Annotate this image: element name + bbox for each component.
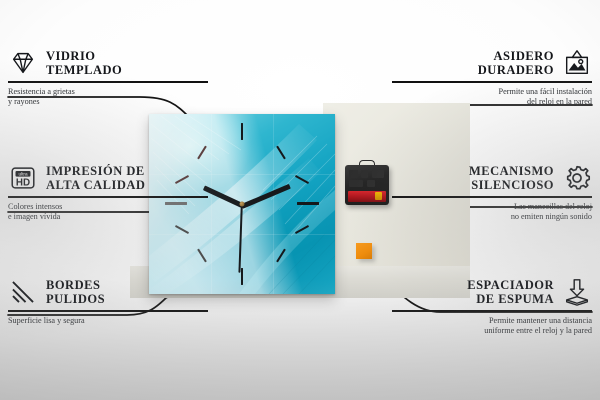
polished-edges-icon bbox=[8, 277, 38, 307]
diamond-icon bbox=[8, 48, 38, 78]
feature-divider bbox=[392, 196, 592, 198]
glass-reflection-line bbox=[149, 234, 335, 235]
feature-title: ESPACIADOR DE ESPUMA bbox=[467, 278, 554, 306]
clock-tick-3 bbox=[297, 202, 319, 205]
feature-title: IMPRESIÓN DE ALTA CALIDAD bbox=[46, 164, 145, 192]
clock-tick-12 bbox=[241, 123, 243, 140]
feature-espaciador-espuma: ESPACIADOR DE ESPUMA Permite mantener un… bbox=[392, 277, 592, 336]
svg-text:HD: HD bbox=[16, 178, 30, 189]
feature-divider bbox=[392, 81, 592, 83]
clock-center-pin bbox=[240, 202, 245, 207]
hanging-picture-frame-icon bbox=[562, 48, 592, 78]
feature-header: VIDRIO TEMPLADO bbox=[8, 48, 208, 78]
feature-header: BORDES PULIDOS bbox=[8, 277, 208, 307]
glass-reflection-line bbox=[273, 114, 274, 294]
feature-header: ESPACIADOR DE ESPUMA bbox=[392, 277, 592, 307]
clock-mechanism bbox=[345, 165, 389, 205]
foam-spacer bbox=[356, 243, 372, 259]
ultra-hd-icon: ultra HD bbox=[8, 163, 38, 193]
feature-divider bbox=[8, 81, 208, 83]
infographic-canvas: VIDRIO TEMPLADO Resistencia a grietas y … bbox=[0, 0, 600, 400]
arrow-down-pad-icon bbox=[562, 277, 592, 307]
clock-tick-6 bbox=[241, 268, 243, 285]
mechanism-battery bbox=[348, 191, 386, 202]
feature-bordes-pulidos: BORDES PULIDOS Superficie lisa y segura bbox=[8, 277, 208, 326]
feature-impresion-alta-calidad: ultra HD IMPRESIÓN DE ALTA CALIDAD Color… bbox=[8, 163, 208, 222]
feature-title: ASIDERO DURADERO bbox=[478, 49, 554, 77]
feature-header: MECANISMO SILENCIOSO bbox=[392, 163, 592, 193]
feature-mecanismo-silencioso: MECANISMO SILENCIOSO Las manecillas del … bbox=[392, 163, 592, 222]
battery-terminal bbox=[375, 192, 382, 200]
feature-header: ASIDERO DURADERO bbox=[392, 48, 592, 78]
feature-vidrio-templado: VIDRIO TEMPLADO Resistencia a grietas y … bbox=[8, 48, 208, 107]
feature-divider bbox=[8, 196, 208, 198]
feature-asidero-duradero: ASIDERO DURADERO Permite una fácil insta… bbox=[392, 48, 592, 107]
feature-divider bbox=[8, 310, 208, 312]
svg-text:ultra: ultra bbox=[18, 172, 27, 177]
feature-divider bbox=[392, 310, 592, 312]
feature-title: MECANISMO SILENCIOSO bbox=[469, 164, 554, 192]
gear-icon bbox=[562, 163, 592, 193]
feature-title: VIDRIO TEMPLADO bbox=[46, 49, 122, 77]
feature-header: ultra HD IMPRESIÓN DE ALTA CALIDAD bbox=[8, 163, 208, 193]
glass-reflection-line bbox=[211, 114, 212, 294]
feature-title: BORDES PULIDOS bbox=[46, 278, 105, 306]
